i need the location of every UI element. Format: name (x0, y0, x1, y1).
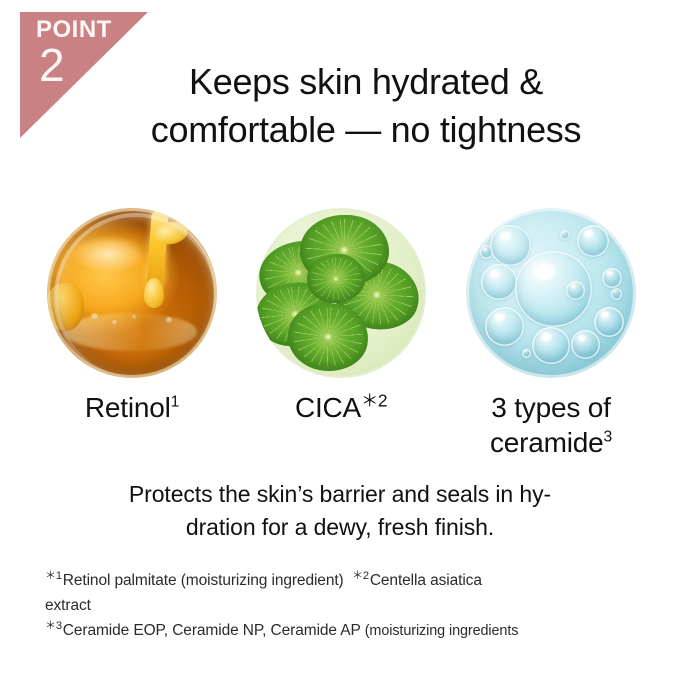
footnote-3-text: Ceramide EOP, Ceramide NP, Ceramide AP (63, 622, 361, 639)
caption-ceramide-label2: ceramide (490, 427, 604, 458)
water-bubble (532, 327, 569, 364)
footnote-1-mark: ＊1 (45, 570, 62, 582)
point-number: 2 (39, 42, 65, 88)
ingredient-ceramide (466, 208, 636, 378)
body-copy-line-1: Protects the skin’s barrier and seals in… (50, 478, 630, 511)
water-bubble (485, 307, 524, 346)
headline-line-1: Keeps skin hydrated & (86, 58, 646, 106)
caption-ceramide: 3 types of ceramide3 (436, 390, 666, 460)
centella-leaves-circle-image (256, 208, 426, 378)
caption-cica-label: CICA (295, 392, 361, 423)
body-copy: Protects the skin’s barrier and seals in… (50, 478, 630, 543)
ingredient-retinol (47, 208, 217, 378)
footnote-2-text: Centella asiatica (370, 572, 482, 589)
footnote-2-mark: ＊2 (352, 570, 369, 582)
water-bubble (522, 349, 531, 358)
water-bubble (490, 225, 531, 266)
headline: Keeps skin hydrated & comfortable — no t… (86, 58, 646, 154)
footnote-1-text: Retinol palmitate (moisturizing ingredie… (63, 572, 344, 589)
footnote-1: ＊1Retinol palmitate (moisturizing ingred… (45, 568, 679, 593)
footnotes: ＊1Retinol palmitate (moisturizing ingred… (45, 568, 679, 644)
amber-oil-circle-image (47, 208, 217, 378)
caption-retinol: Retinol1 (17, 390, 247, 425)
caption-ceramide-label: 3 types of (491, 392, 610, 423)
caption-retinol-label: Retinol (85, 392, 171, 423)
water-bubble (566, 281, 585, 300)
ingredient-circles-row (0, 208, 679, 378)
ingredient-cica (256, 208, 426, 378)
caption-cica: CICA＊2 (226, 390, 456, 425)
water-bubble (481, 264, 517, 300)
caption-ceramide-line2: ceramide3 (436, 425, 666, 460)
oil-outer-rim (47, 208, 217, 378)
footnote-3-mark: ＊3 (45, 620, 62, 632)
caption-retinol-mark: 1 (171, 394, 180, 411)
infographic-page: POINT 2 Keeps skin hydrated & comfortabl… (0, 0, 679, 679)
water-bubble (611, 288, 623, 300)
footnote-3-text-small: (moisturizing ingredients (365, 623, 519, 639)
headline-line-2: comfortable — no tightness (86, 106, 646, 154)
water-bubble (594, 307, 625, 338)
water-bubbles-circle-image (466, 208, 636, 378)
footnote-1-continuation: extract (45, 593, 679, 618)
caption-ceramide-mark: 3 (604, 429, 613, 446)
water-bubble (560, 230, 570, 240)
caption-cica-mark: ＊2 (361, 391, 387, 411)
water-bubble (577, 225, 609, 257)
footnote-3: ＊3Ceramide EOP, Ceramide NP, Ceramide AP… (45, 618, 679, 643)
body-copy-line-2: dration for a dewy, fresh finish. (50, 511, 630, 544)
